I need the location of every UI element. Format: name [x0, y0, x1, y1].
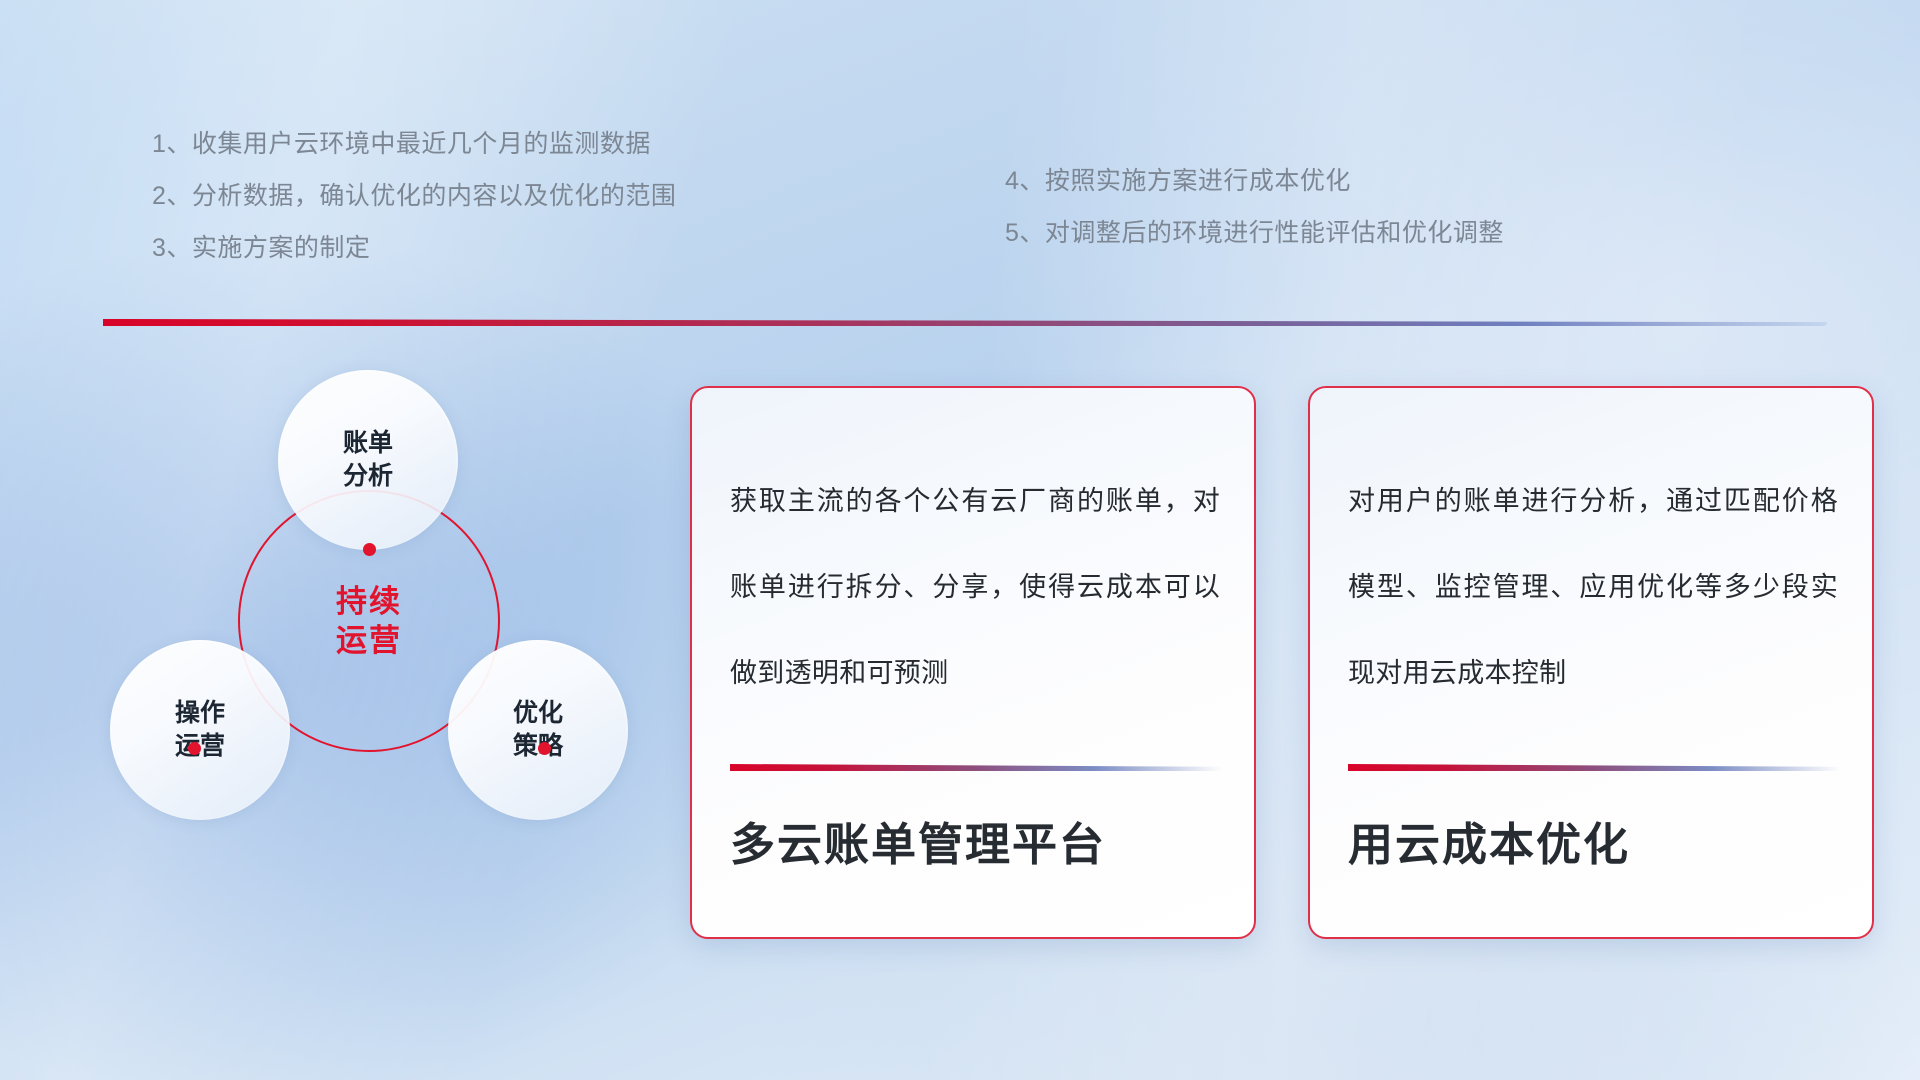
connector-dot-right: [538, 742, 551, 755]
process-step: 3、实施方案的制定: [152, 222, 676, 274]
card-title: 用云成本优化: [1348, 808, 1630, 873]
card-divider: [1348, 764, 1840, 771]
center-label-line1: 持续: [336, 582, 402, 621]
node-label-line1: 优化: [513, 697, 563, 730]
process-step: 2、分析数据，确认优化的内容以及优化的范围: [152, 170, 676, 222]
node-label-line1: 账单: [343, 427, 393, 460]
center-label: 持续 运营: [238, 490, 500, 752]
process-step: 4、按照实施方案进行成本优化: [1005, 155, 1504, 207]
connector-dot-top: [363, 543, 376, 556]
section-divider: [103, 319, 1827, 326]
center-label-line2: 运营: [336, 621, 402, 660]
process-step: 1、收集用户云环境中最近几个月的监测数据: [152, 118, 676, 170]
process-steps-right: 4、按照实施方案进行成本优化 5、对调整后的环境进行性能评估和优化调整: [1005, 155, 1504, 259]
process-step: 5、对调整后的环境进行性能评估和优化调整: [1005, 207, 1504, 259]
connector-dot-left: [188, 742, 201, 755]
card-body-text: 对用户的账单进行分析，通过匹配价格模型、监控管理、应用优化等多少段实现对用云成本…: [1348, 458, 1838, 716]
info-card-cloud-cost-optimization[interactable]: 对用户的账单进行分析，通过匹配价格模型、监控管理、应用优化等多少段实现对用云成本…: [1308, 386, 1874, 939]
info-card-multicloud-billing[interactable]: 获取主流的各个公有云厂商的账单，对账单进行拆分、分享，使得云成本可以做到透明和可…: [690, 386, 1256, 939]
card-title: 多云账单管理平台: [730, 808, 1106, 873]
process-steps-left: 1、收集用户云环境中最近几个月的监测数据 2、分析数据，确认优化的内容以及优化的…: [152, 118, 676, 274]
slide-canvas: 1、收集用户云环境中最近几个月的监测数据 2、分析数据，确认优化的内容以及优化的…: [0, 0, 1920, 1080]
card-body-text: 获取主流的各个公有云厂商的账单，对账单进行拆分、分享，使得云成本可以做到透明和可…: [730, 458, 1220, 716]
card-divider: [730, 764, 1222, 771]
node-label-line1: 操作: [175, 697, 225, 730]
node-label-line2: 分析: [343, 460, 393, 493]
continuous-operation-diagram: 持续 运营 账单 分析 操作 运营 优化 策略: [100, 360, 640, 940]
